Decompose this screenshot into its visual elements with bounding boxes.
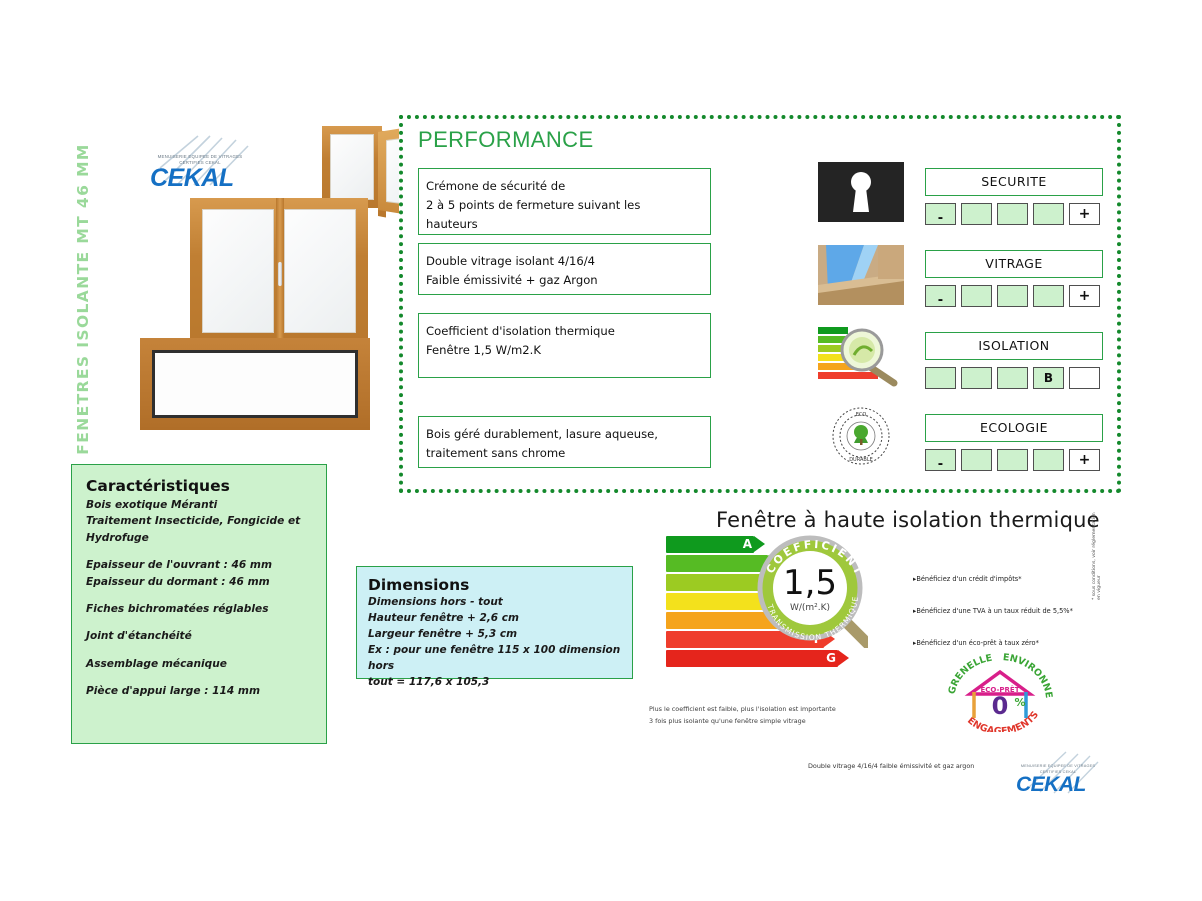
rating-cells-vitrage: - +	[925, 285, 1100, 307]
keyhole-glyph	[848, 170, 874, 214]
cekal-wordmark: CEKAL	[150, 164, 234, 193]
rating-cells-securite: - +	[925, 203, 1100, 225]
svg-text:%: %	[1014, 696, 1025, 709]
dims-line: Ex : pour une fenêtre 115 x 100 dimensio…	[368, 643, 621, 675]
rating-cells-ecologie: - +	[925, 449, 1100, 471]
carac-line: Fiches bichromatées réglables	[86, 601, 312, 617]
rating-cell[interactable]	[1033, 285, 1064, 307]
svg-text:DURABLE: DURABLE	[849, 457, 873, 463]
carac-line: Hydrofuge	[86, 530, 312, 546]
performance-box-ecologie: Bois géré durablement, lasure aqueuse, t…	[418, 416, 711, 468]
magnifier-coefficient-icon: COEFFICIENT TRANSMISSION THERMIQUE 1,5 W…	[752, 532, 868, 648]
carac-line: Traitement Insecticide, Fongicide et	[86, 513, 312, 529]
glazing-glyph	[818, 245, 904, 305]
benefit-item-2: ▸Bénéficiez d'une TVA à un taux réduit d…	[913, 607, 1073, 615]
magnifier-energy-icon	[818, 325, 904, 385]
eco-stamp-glyph: ECO DURABLE	[818, 405, 904, 467]
coefficient-unit: W/(m².K)	[790, 603, 830, 613]
carac-line: Epaisseur de l'ouvrant : 46 mm	[86, 557, 312, 573]
bottom-heading: Fenêtre à haute isolation thermique	[716, 508, 1100, 532]
vertical-product-title: FENETRES ISOLANTE MT 46 MM	[74, 134, 92, 464]
energy-bar-a: A	[666, 536, 754, 553]
legal-sidenote: * sous conditions, voir réglementation e…	[1092, 510, 1102, 600]
rating-cell-plus[interactable]: +	[1069, 285, 1100, 307]
eco-stamp-icon: ECO DURABLE	[818, 405, 904, 465]
rating-cell[interactable]	[925, 367, 956, 389]
rating-cell[interactable]	[961, 203, 992, 225]
rating-label-isolation: ISOLATION	[925, 332, 1103, 360]
rating-cell-minus[interactable]: -	[925, 285, 956, 307]
coefficient-value: 1,5	[783, 563, 837, 603]
performance-title: PERFORMANCE	[418, 127, 594, 153]
dims-line: Hauteur fenêtre + 2,6 cm	[368, 611, 621, 627]
rating-cell[interactable]	[1033, 203, 1064, 225]
energy-label-graphic: A F G	[666, 536, 906, 686]
window-handle	[278, 262, 282, 286]
magnifier-energy-glyph	[818, 325, 904, 387]
energy-caption: Plus le coefficient est faible, plus l'i…	[649, 703, 889, 728]
rating-cell[interactable]	[961, 367, 992, 389]
benefit-item-3: ▸Bénéficiez d'un éco-prêt à taux zéro*	[913, 639, 1039, 647]
benefit-item-1: ▸Bénéficiez d'un crédit d'impôts*	[913, 575, 1022, 583]
rating-cell-grade[interactable]: B	[1033, 367, 1064, 389]
footer-note: Double vitrage 4/16/4 faible émissivité …	[808, 762, 974, 770]
rating-cell[interactable]	[997, 203, 1028, 225]
dims-line: Largeur fenêtre + 5,3 cm	[368, 627, 621, 643]
cekal-logo-footer: MENUISERIE EQUIPEE DE VITRAGES CERTIFIES…	[1008, 752, 1108, 806]
energy-bar-g: G	[666, 650, 838, 667]
carac-line: Pièce d'appui large : 114 mm	[86, 683, 312, 699]
glazing-icon	[818, 245, 904, 305]
grenelle-environnement-badge: GRENELLE ENVIRONNEMENT ENGAGEMENTS ÉCO-P…	[944, 648, 1056, 732]
rating-cell[interactable]	[1033, 449, 1064, 471]
carac-line: Joint d'étanchéité	[86, 628, 312, 644]
cekal-logo: MENUISERIE EQUIPEE DE VITRAGES CERTIFIES…	[140, 138, 258, 200]
rating-cell-minus[interactable]: -	[925, 203, 956, 225]
carac-line: Assemblage mécanique	[86, 656, 312, 672]
rating-label-securite: SECURITE	[925, 168, 1103, 196]
rating-cell[interactable]	[961, 449, 992, 471]
dimensions-title: Dimensions	[368, 576, 621, 594]
rating-cell[interactable]	[961, 285, 992, 307]
transom-pane	[152, 350, 358, 418]
carac-line: Bois exotique Méranti	[86, 497, 312, 513]
rating-cell[interactable]	[997, 285, 1028, 307]
caracteristiques-box: Caractéristiques Bois exotique Méranti T…	[71, 464, 327, 744]
performance-box-securite: Crémone de sécurité de 2 à 5 points de f…	[418, 168, 711, 235]
rating-label-ecologie: ECOLOGIE	[925, 414, 1103, 442]
svg-text:ECO: ECO	[856, 412, 867, 418]
keyhole-icon	[818, 162, 904, 222]
rating-cell[interactable]	[997, 449, 1028, 471]
rating-cell[interactable]	[1069, 367, 1100, 389]
rating-cell-plus[interactable]: +	[1069, 203, 1100, 225]
svg-text:0: 0	[992, 692, 1009, 720]
dims-line: Dimensions hors - tout	[368, 595, 621, 611]
dims-line: tout = 117,6 x 105,3	[368, 675, 621, 691]
cekal-wordmark: CEKAL	[1016, 773, 1086, 797]
performance-box-isolation: Coefficient d'isolation thermique Fenêtr…	[418, 313, 711, 378]
rating-cell[interactable]	[997, 367, 1028, 389]
rating-cells-isolation: B	[925, 367, 1100, 389]
rating-label-vitrage: VITRAGE	[925, 250, 1103, 278]
datasheet-page: FENETRES ISOLANTE MT 46 MM MENUISERIE EQ…	[0, 0, 1202, 901]
rating-cell-minus[interactable]: -	[925, 449, 956, 471]
performance-box-vitrage: Double vitrage isolant 4/16/4 Faible émi…	[418, 243, 711, 295]
carac-line: Epaisseur du dormant : 46 mm	[86, 574, 312, 590]
caracteristiques-title: Caractéristiques	[86, 477, 312, 495]
dimensions-box: Dimensions Dimensions hors - tout Hauteu…	[356, 566, 633, 679]
rating-cell-plus[interactable]: +	[1069, 449, 1100, 471]
